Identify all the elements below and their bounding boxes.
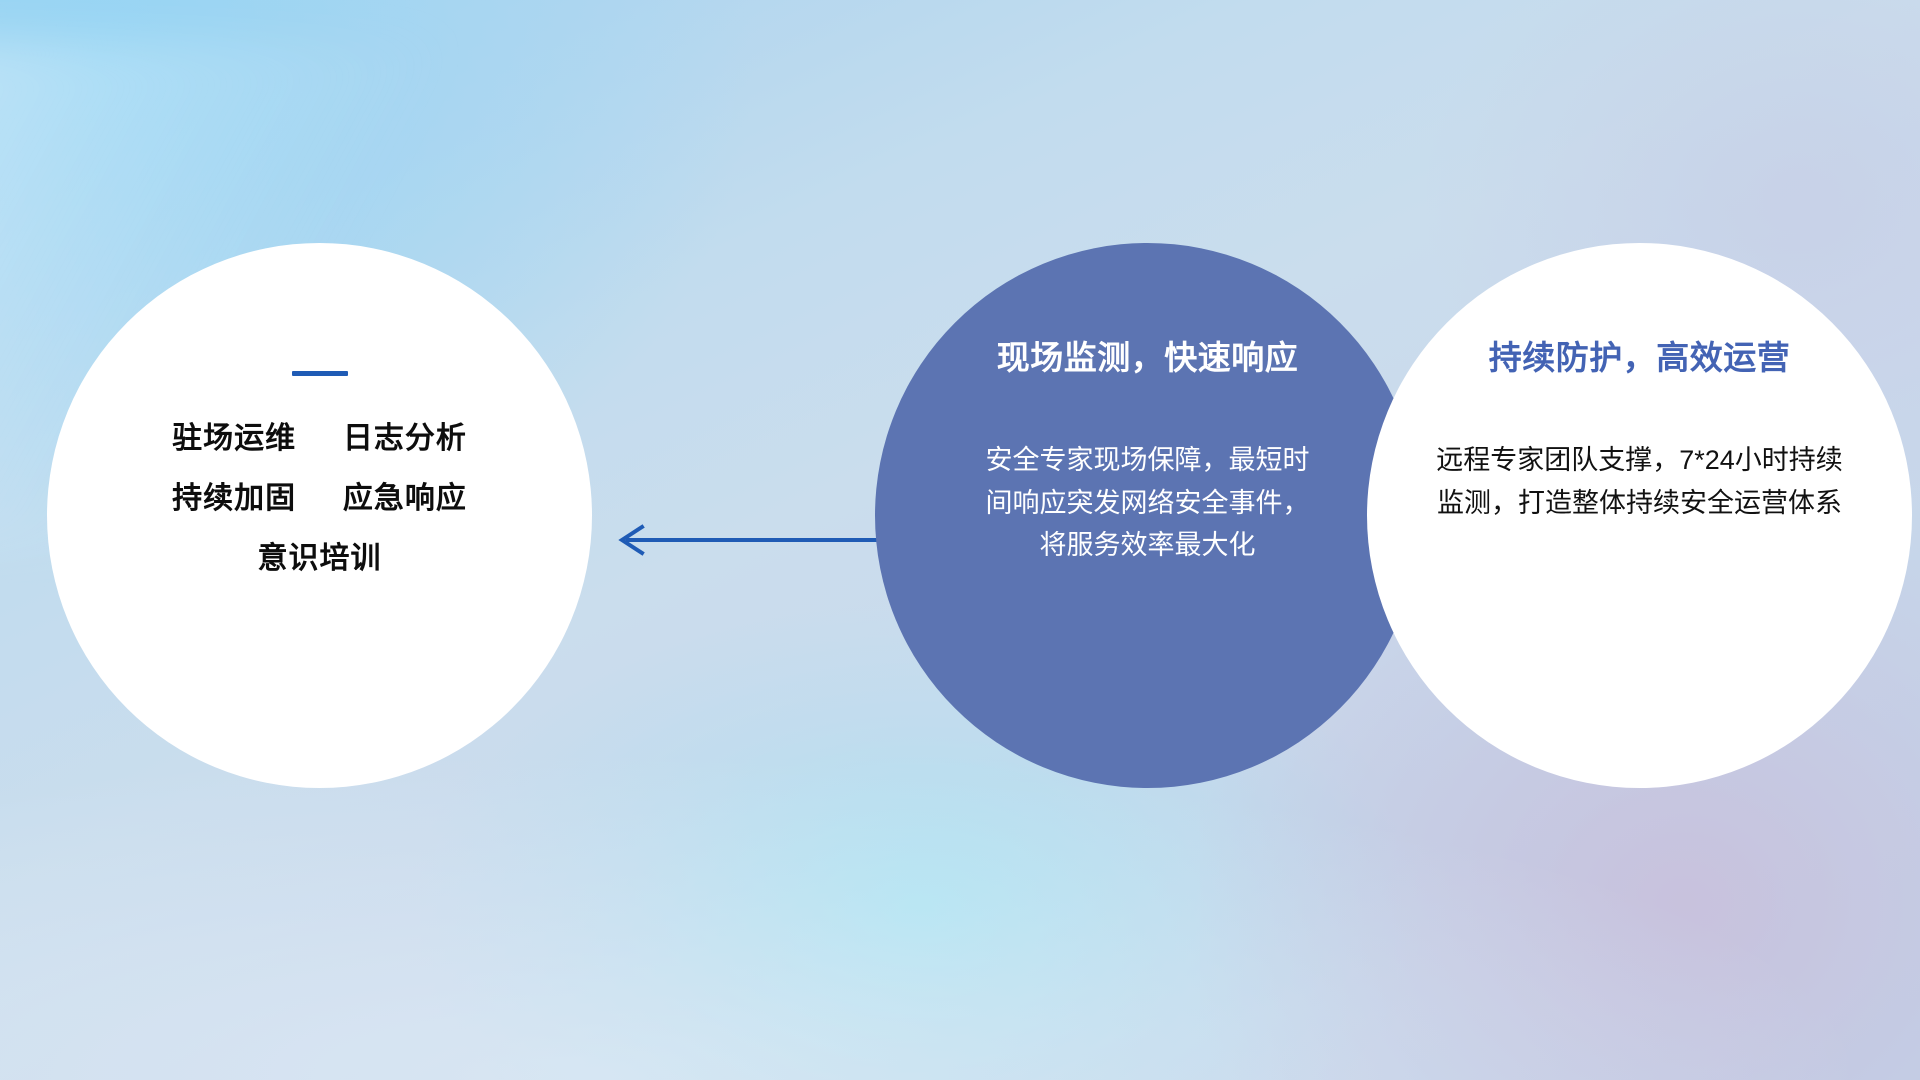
- card-title: 现场监测，快速响应: [997, 331, 1299, 379]
- card-body: 远程专家团队支撑，7*24小时持续监测，打造整体持续安全运营体系: [1430, 439, 1850, 524]
- card-body: 安全专家现场保障，最短时间响应突发网络安全事件，将服务效率最大化: [983, 439, 1313, 567]
- card-title: 持续防护，高效运营: [1489, 331, 1791, 379]
- capability-label: 应急响应: [343, 482, 467, 515]
- background-glow-bottom: [0, 740, 1920, 1080]
- divider-rule: [292, 371, 348, 376]
- arrow-left-icon: [612, 520, 912, 560]
- capability-label: 驻场运维: [172, 422, 296, 455]
- onsite-monitoring-circle: 现场监测，快速响应 安全专家现场保障，最短时间响应突发网络安全事件，将服务效率最…: [875, 243, 1420, 788]
- capability-label: 持续加固: [172, 482, 296, 515]
- capability-row: 持续加固 应急响应: [172, 484, 467, 514]
- capability-row: 意识培训: [258, 544, 382, 574]
- capability-label: 日志分析: [343, 422, 467, 455]
- capability-label: 意识培训: [258, 542, 382, 575]
- capability-row: 驻场运维 日志分析: [172, 424, 467, 454]
- continuous-protection-circle: 持续防护，高效运营 远程专家团队支撑，7*24小时持续监测，打造整体持续安全运营…: [1367, 243, 1912, 788]
- service-capability-circle: 驻场运维 日志分析 持续加固 应急响应 意识培训: [47, 243, 592, 788]
